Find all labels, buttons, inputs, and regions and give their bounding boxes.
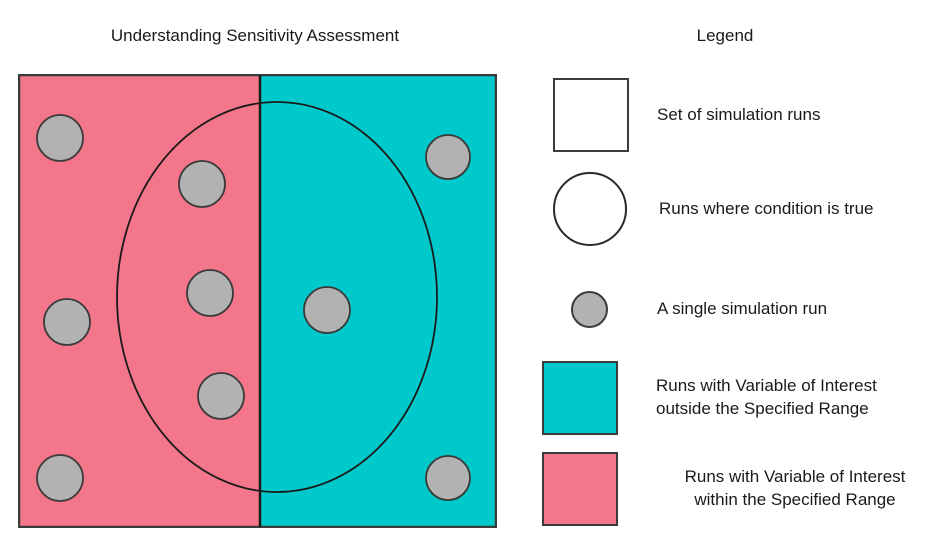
legend-item-label: Runs with Variable of Interestwithin the… [656,466,934,512]
legend-item-label: Runs with Variable of Interestoutside th… [656,375,934,421]
legend-item-single-run: A single simulation run [571,291,933,328]
legend-item-set-of-simulation-runs: Set of simulation runs [553,78,933,152]
simulation-run-dot [426,135,470,179]
legend-item-label: Runs where condition is true [659,198,874,221]
simulation-run-dot [37,115,83,161]
simulation-run-dot [37,455,83,501]
white-square-icon [553,78,629,152]
pink-square-icon [542,452,618,526]
legend-item-within-specified-range: Runs with Variable of Interestwithin the… [542,452,934,526]
simulation-run-dot [304,287,350,333]
legend-item-condition-true: Runs where condition is true [553,172,933,246]
simulation-run-dot [44,299,90,345]
legend-item-outside-specified-range: Runs with Variable of Interestoutside th… [542,361,934,435]
legend-title: Legend [600,26,850,46]
legend-item-label: A single simulation run [657,298,827,321]
gray-dot-icon [571,291,608,328]
teal-square-icon [542,361,618,435]
simulation-run-dot [426,456,470,500]
outline-circle-icon [553,172,627,246]
legend-panel: Set of simulation runs Runs where condit… [540,70,936,550]
simulation-run-dot [179,161,225,207]
legend-item-label: Set of simulation runs [657,104,820,127]
simulation-run-dot [198,373,244,419]
simulation-run-dot [187,270,233,316]
page-title: Understanding Sensitivity Assessment [0,26,510,46]
sensitivity-venn-diagram [18,74,497,528]
